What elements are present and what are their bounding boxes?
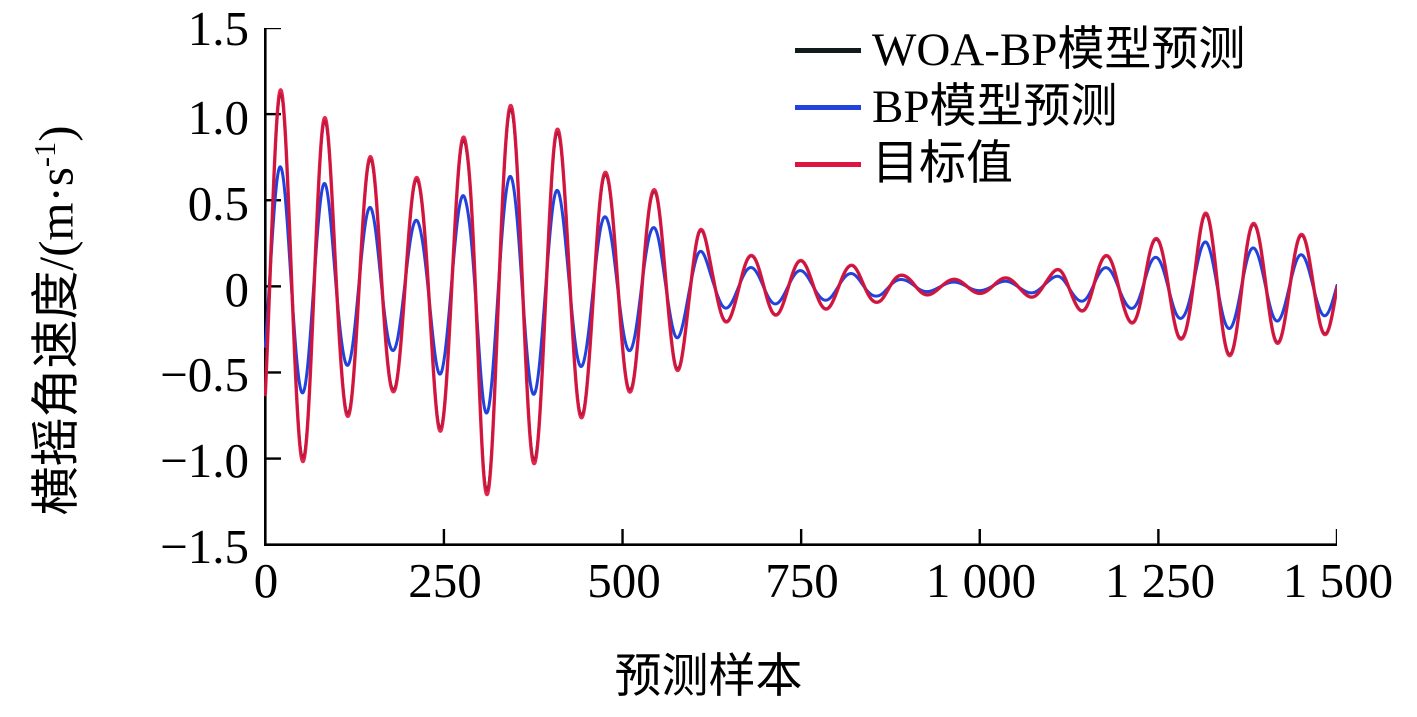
y-tick-label-3: 0.5	[188, 179, 249, 228]
legend-swatch-woa-bp	[795, 48, 861, 53]
y-tick-label-4: 0	[225, 265, 250, 314]
x-tick-label-6: 1 250	[1105, 556, 1215, 605]
x-tick-label-1: 0	[254, 556, 279, 605]
y-tick-label-6: −1.0	[160, 436, 249, 485]
series-line-1	[265, 167, 1337, 413]
legend-label-woa-bp: WOA-BP模型预测	[872, 27, 1245, 74]
y-tick-label-2: 1.0	[188, 93, 249, 142]
y-axis-title-superscript: -1	[28, 142, 62, 167]
legend-label-bp: BP模型预测	[872, 84, 1118, 131]
legend-label-target: 目标值	[872, 141, 1013, 188]
legend-item-target[interactable]: 目标值	[795, 136, 1245, 193]
chart-legend: WOA-BP模型预测 BP模型预测 目标值	[795, 22, 1245, 193]
x-tick-label-2: 250	[408, 556, 482, 605]
legend-swatch-target	[795, 162, 861, 167]
x-tick-label-4: 750	[765, 556, 839, 605]
chart-figure: 横摇角速度/(m·s-1) 1.5 1.0 0.5 0 −0.5 −1.0 −1…	[0, 0, 1417, 717]
x-tick-label-5: 1 000	[926, 556, 1036, 605]
x-tick-label-7: 1 500	[1283, 556, 1393, 605]
y-tick-label-7: −1.5	[160, 522, 249, 571]
y-axis-title-main: 横摇角速度/(m·s	[29, 167, 84, 515]
y-axis-title-end: )	[29, 125, 84, 141]
legend-item-woa-bp[interactable]: WOA-BP模型预测	[795, 22, 1245, 79]
y-tick-label-1: 1.5	[188, 4, 249, 53]
x-axis-title: 预测样本	[0, 637, 1417, 706]
y-axis-title: 横摇角速度/(m·s-1)	[17, 41, 88, 601]
x-tick-label-3: 500	[587, 556, 661, 605]
legend-item-bp[interactable]: BP模型预测	[795, 79, 1245, 136]
y-tick-label-5: −0.5	[160, 350, 249, 399]
legend-swatch-bp	[795, 105, 861, 110]
